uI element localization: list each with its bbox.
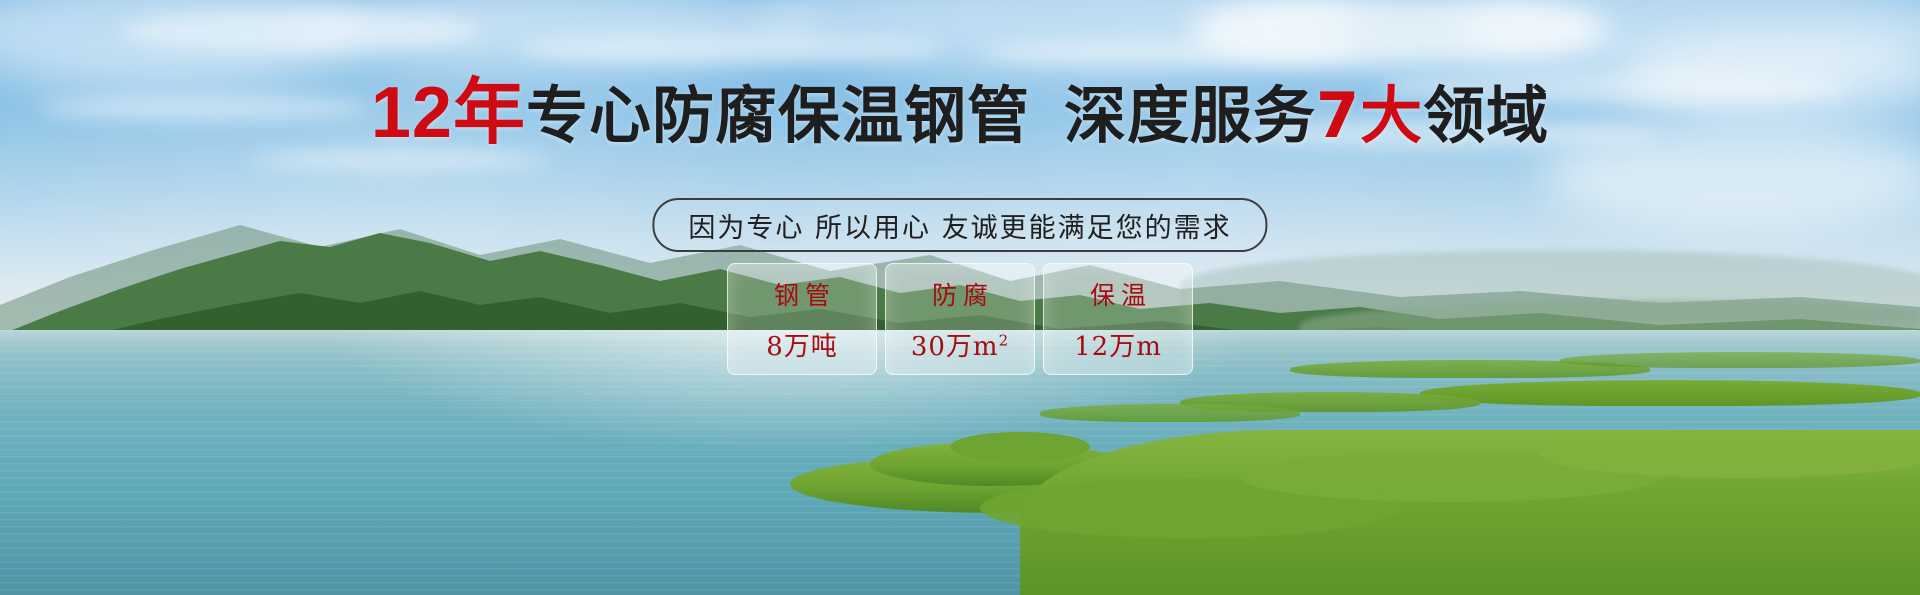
page-title: 12年专心防腐保温钢管深度服务7大领域 bbox=[0, 78, 1920, 151]
hero-banner: 12年专心防腐保温钢管深度服务7大领域 因为专心 所以用心 友诚更能满足您的需求… bbox=[0, 0, 1920, 595]
stat-card-number: 12万m bbox=[1074, 332, 1162, 362]
stat-card-anticorrosion[interactable]: 防腐 30万m2 bbox=[885, 263, 1035, 375]
stat-card-insulation[interactable]: 保温 12万m bbox=[1043, 263, 1193, 375]
stat-card-title: 保温 bbox=[1084, 276, 1152, 312]
headline-fields-count: 7大 bbox=[1316, 79, 1423, 152]
stat-card-title: 钢管 bbox=[768, 276, 836, 312]
headline-years: 12年 bbox=[371, 73, 526, 153]
stat-card-value: 30万m2 bbox=[911, 326, 1009, 363]
stats-card-group: 钢管 8万吨 防腐 30万m2 保温 12万m bbox=[727, 263, 1193, 375]
stat-card-value: 8万吨 bbox=[766, 326, 838, 363]
stat-card-title: 防腐 bbox=[926, 276, 994, 312]
headline-main: 专心防腐保温钢管 bbox=[526, 79, 1030, 152]
subtitle-pill: 因为专心 所以用心 友诚更能满足您的需求 bbox=[652, 198, 1267, 252]
subtitle-text: 因为专心 所以用心 友诚更能满足您的需求 bbox=[688, 206, 1231, 245]
stat-card-value: 12万m bbox=[1074, 326, 1162, 363]
headline-service: 深度服务 bbox=[1064, 79, 1316, 152]
stat-card-exponent: 2 bbox=[999, 331, 1010, 349]
stat-card-number: 8万吨 bbox=[766, 332, 838, 362]
stat-card-number: 30万m bbox=[911, 332, 999, 362]
banner-overlay: 12年专心防腐保温钢管深度服务7大领域 因为专心 所以用心 友诚更能满足您的需求… bbox=[0, 0, 1920, 595]
headline-fields: 领域 bbox=[1423, 79, 1549, 152]
stat-card-steel-pipe[interactable]: 钢管 8万吨 bbox=[727, 263, 877, 375]
